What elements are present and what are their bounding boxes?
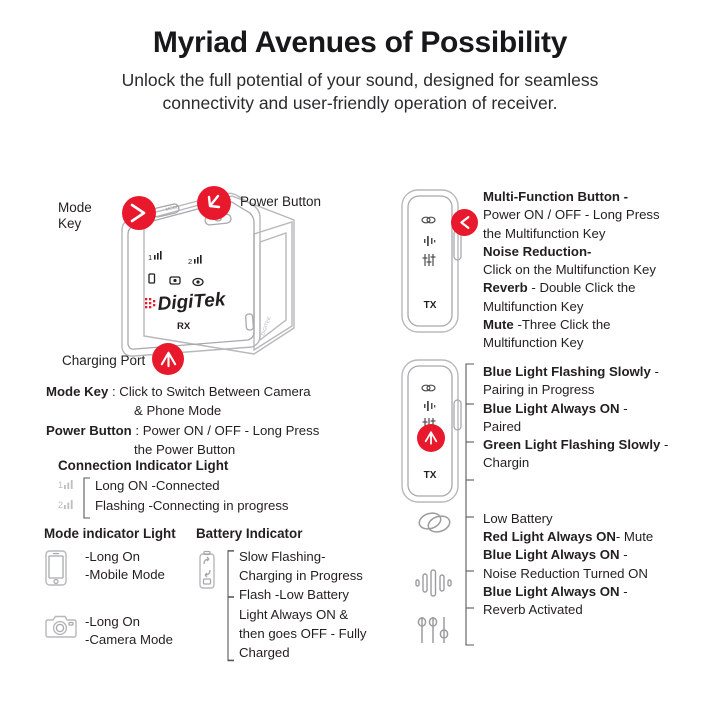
mfb-line-8: Multifunction Key: [483, 334, 719, 352]
signal-1-icon: 1: [58, 476, 80, 490]
multi-function-button-text: Multi-Function Button - Power ON / OFF -…: [483, 188, 719, 353]
battery-indicator-heading: Battery Indicator: [196, 526, 302, 541]
connection-row-1: Long ON -Connected: [95, 476, 289, 496]
signal-2-icon: 2: [58, 496, 80, 510]
battery-item-4: then goes OFF - Fully: [239, 625, 367, 643]
sliders-icon: [408, 614, 460, 646]
battery-bracket: [226, 548, 235, 663]
status-text-gap: [483, 473, 720, 510]
mode-mobile-line1: -Long On: [85, 548, 165, 566]
mode-key-sep: :: [108, 384, 119, 399]
page-subtitle: Unlock the full potential of your sound,…: [0, 69, 720, 115]
battery-item-1: Charging in Progress: [239, 567, 367, 585]
svg-text:2: 2: [58, 500, 63, 510]
battery-item-3: Light Always ON &: [239, 606, 367, 624]
charging-port-marker[interactable]: [152, 343, 184, 375]
left-key-descriptions: Mode Key : Click to Switch Between Camer…: [46, 382, 376, 459]
status-light-text: Blue Light Flashing Slowly - Pairing in …: [483, 363, 720, 619]
svg-text:2: 2: [188, 257, 192, 266]
mode-indicator-heading: Mode indicator Light: [44, 526, 196, 541]
status-line-2: Blue Light Always ON -: [483, 400, 720, 418]
mode-key-desc: Click to Switch Between Camera: [119, 384, 310, 399]
camera-icon: [44, 613, 78, 640]
mode-key-marker[interactable]: [122, 196, 156, 230]
page-title: Myriad Avenues of Possibility: [0, 26, 720, 60]
status-icon-stack: [408, 508, 460, 660]
mfb-line-4: Click on the Multifunction Key: [483, 261, 719, 279]
mode-camera-line1: -Long On: [85, 613, 173, 631]
header: Myriad Avenues of Possibility Unlock the…: [0, 26, 720, 115]
power-button-sep: :: [132, 423, 143, 438]
connection-indicator-heading: Connection Indicator Light: [58, 458, 378, 473]
battery-charging-icon: [196, 548, 222, 663]
mfb-line-6: Multifunction Key: [483, 298, 719, 316]
mfb-line-2: the Multifunction Key: [483, 225, 719, 243]
status-line-4: Green Light Flashing Slowly -: [483, 436, 720, 454]
mode-key-line1: Mode: [58, 200, 120, 216]
status-line-5: Chargin: [483, 454, 720, 472]
battery-item-5: Charged: [239, 644, 367, 662]
tx-device-top-illustration: TX: [398, 186, 470, 336]
mode-key-term: Mode Key: [46, 384, 108, 399]
status-light-marker[interactable]: [417, 424, 445, 452]
mode-key-line2: Key: [58, 216, 120, 232]
charging-port-callout-label: Charging Port: [62, 353, 145, 369]
mode-key-callout-label: Mode Key: [58, 200, 120, 233]
battery-item-0: Slow Flashing-: [239, 548, 367, 566]
mode-key-description: Mode Key : Click to Switch Between Camer…: [46, 382, 376, 401]
power-button-callout-label: Power Button: [240, 194, 321, 210]
noise-icon: [408, 568, 460, 598]
status2-line-3: Noise Reduction Turned ON: [483, 565, 720, 583]
connection-indicator-section: Connection Indicator Light 1 2: [58, 458, 378, 520]
connection-bracket: [82, 476, 91, 520]
digitek-logo: DigiTek: [145, 289, 228, 315]
mode-key-description-cont: & Phone Mode: [46, 401, 376, 420]
mfb-line-0: Multi-Function Button -: [483, 188, 719, 206]
multi-function-button-marker[interactable]: [451, 209, 478, 236]
power-button-description: Power Button : Power ON / OFF - Long Pre…: [46, 421, 376, 440]
status2-line-5: Reverb Activated: [483, 601, 720, 619]
infographic-page: Myriad Avenues of Possibility Unlock the…: [0, 0, 720, 720]
status2-line-1: Red Light Always ON- Mute: [483, 528, 720, 546]
power-button-marker[interactable]: [197, 186, 231, 220]
battery-indicator-list: Slow Flashing- Charging in Progress Flas…: [239, 548, 367, 663]
mode-mobile-line2: -Mobile Mode: [85, 566, 165, 584]
mfb-line-5: Reverb - Double Click the: [483, 279, 719, 297]
status2-line-4: Blue Light Always ON -: [483, 583, 720, 601]
mode-camera-line2: -Camera Mode: [85, 631, 173, 649]
power-button-desc: Power ON / OFF - Long Press: [143, 423, 320, 438]
rx-label: RX: [177, 321, 191, 332]
mode-indicator-mobile: -Long On -Mobile Mode: [44, 548, 196, 587]
power-button-description-cont: the Power Button: [46, 440, 376, 459]
status-bracket: [463, 362, 475, 647]
tx-top-label: TX: [424, 300, 437, 311]
status-line-3: Paired: [483, 418, 720, 436]
mfb-line-3: Noise Reduction-: [483, 243, 719, 261]
phone-icon: [44, 548, 78, 587]
tx-bottom-label: TX: [424, 470, 437, 481]
mode-and-battery-section: Mode indicator Light Battery Indicator: [44, 526, 384, 663]
svg-text:1: 1: [58, 480, 63, 490]
status-line-0: Blue Light Flashing Slowly -: [483, 363, 720, 381]
battery-item-2: Flash -Low Battery: [239, 586, 367, 604]
svg-text:DigiTek: DigiTek: [157, 289, 228, 315]
status2-line-2: Blue Light Always ON -: [483, 546, 720, 564]
mfb-line-7: Mute -Three Click the: [483, 316, 719, 334]
mode-indicator-camera: -Long On -Camera Mode: [44, 613, 196, 649]
link-icon: [408, 508, 460, 538]
svg-text:DIGITEK: DIGITEK: [260, 315, 273, 336]
connection-row-2: Flashing -Connecting in progress: [95, 496, 289, 516]
mfb-line-1: Power ON / OFF - Long Press: [483, 206, 719, 224]
status2-line-0: Low Battery: [483, 510, 720, 528]
status-line-1: Pairing in Progress: [483, 381, 720, 399]
svg-text:1: 1: [148, 253, 152, 262]
power-button-term: Power Button: [46, 423, 132, 438]
